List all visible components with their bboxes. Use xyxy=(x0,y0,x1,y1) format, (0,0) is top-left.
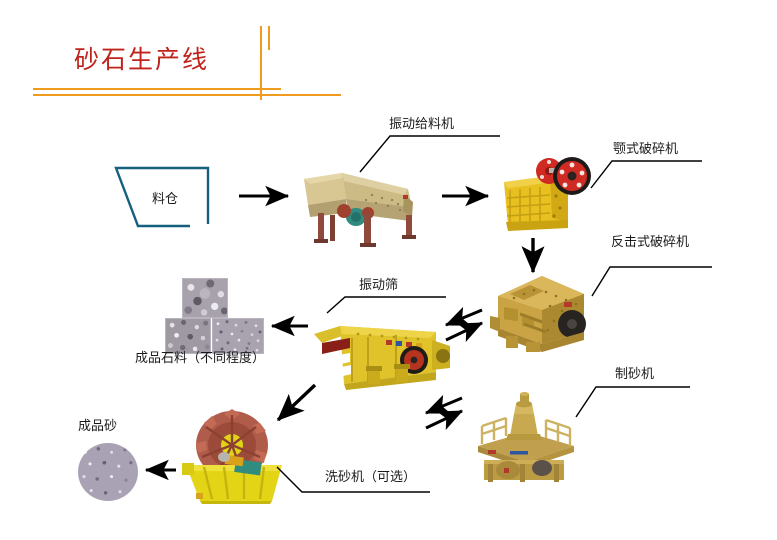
machine-sand-washer xyxy=(180,405,296,505)
label-sand-maker: 制砂机 xyxy=(615,368,654,381)
title-rule-upper xyxy=(33,88,281,90)
machine-jaw-crusher xyxy=(494,146,594,238)
aggregate-pile-medium xyxy=(165,318,211,354)
label-finished-aggregate: 成品石料（不同程度） xyxy=(135,352,265,365)
aggregate-pile-coarse xyxy=(182,278,228,318)
machine-vibrating-feeder xyxy=(300,155,424,250)
label-jaw-crusher: 颚式破碎机 xyxy=(613,143,678,156)
sand-production-line-diagram: 砂石生产线 料仓 xyxy=(0,0,777,540)
label-vibrating-feeder: 振动给料机 xyxy=(389,118,454,131)
leader-line-impact-crusher xyxy=(592,267,712,296)
arrow-screen-to-sandmaker xyxy=(426,411,462,428)
label-sand-washer: 洗砂机（可选） xyxy=(325,471,416,484)
finished-sand-pile xyxy=(78,443,138,501)
label-vibrating-screen: 振动筛 xyxy=(359,279,398,292)
arrow-sandmaker-to-screen xyxy=(426,398,462,413)
machine-impact-crusher xyxy=(484,266,596,358)
label-finished-sand: 成品砂 xyxy=(78,420,117,433)
machine-vibrating-screen xyxy=(310,310,458,398)
title-rule-lower xyxy=(33,94,341,96)
page-title: 砂石生产线 xyxy=(74,40,209,76)
title-rule-tick xyxy=(268,26,270,50)
leader-line-jaw-crusher xyxy=(591,161,702,188)
machine-sand-maker xyxy=(464,388,584,488)
label-impact-crusher: 反击式破碎机 xyxy=(611,236,689,249)
hopper-label: 料仓 xyxy=(152,188,178,207)
aggregate-pile-fine xyxy=(212,318,264,354)
leader-line-sand-maker xyxy=(576,387,690,417)
title-rule-vertical xyxy=(260,26,262,100)
